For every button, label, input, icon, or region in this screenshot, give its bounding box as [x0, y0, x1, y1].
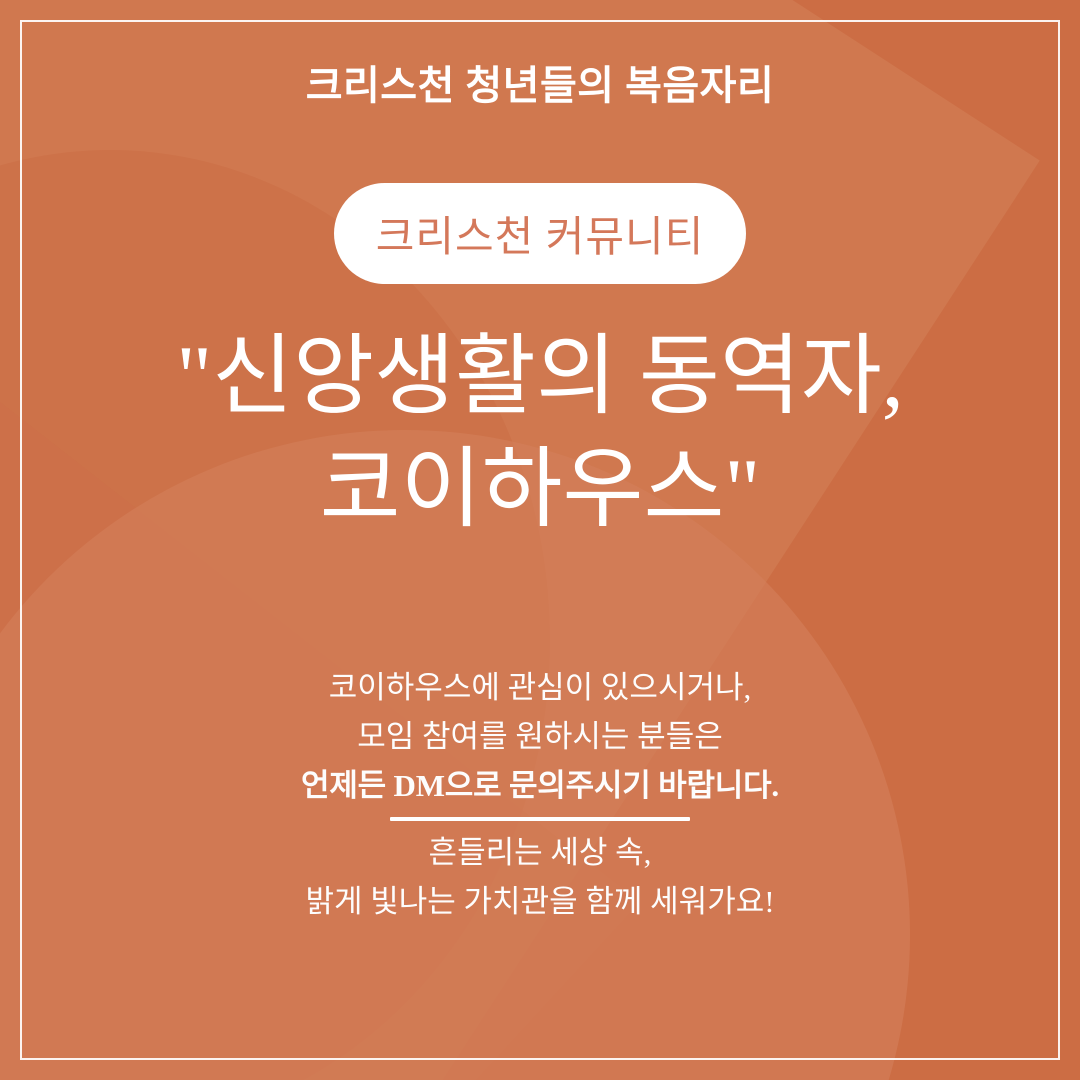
body-line-emphasis: 언제든 DM으로 문의주시기 바랍니다. [301, 762, 779, 811]
body-line-2: 모임 참여를 원하시는 분들은 [301, 713, 779, 762]
category-badge: 크리스천 커뮤니티 [334, 183, 746, 284]
emphasis-underline [390, 817, 690, 821]
poster-canvas: 크리스천 청년들의 복음자리 크리스천 커뮤니티 "신앙생활의 동역자, 코이하… [0, 0, 1080, 1080]
headline-line-1: "신앙생활의 동역자, [176, 322, 904, 435]
body-line-5: 밝게 빛나는 가치관을 함께 세워가요! [301, 878, 779, 927]
category-badge-label: 크리스천 커뮤니티 [376, 203, 705, 264]
page-title: "신앙생활의 동역자, 코이하우스" [176, 322, 904, 547]
body-line-1: 코이하우스에 관심이 있으시거나, [301, 664, 779, 713]
poster-content: 크리스천 청년들의 복음자리 크리스천 커뮤니티 "신앙생활의 동역자, 코이하… [0, 0, 1080, 1080]
eyebrow-text: 크리스천 청년들의 복음자리 [306, 62, 775, 110]
headline-line-2: 코이하우스" [176, 435, 904, 548]
body-text-block: 코이하우스에 관심이 있으시거나, 모임 참여를 원하시는 분들은 언제든 DM… [301, 664, 779, 927]
body-line-4: 흔들리는 세상 속, [301, 829, 779, 878]
